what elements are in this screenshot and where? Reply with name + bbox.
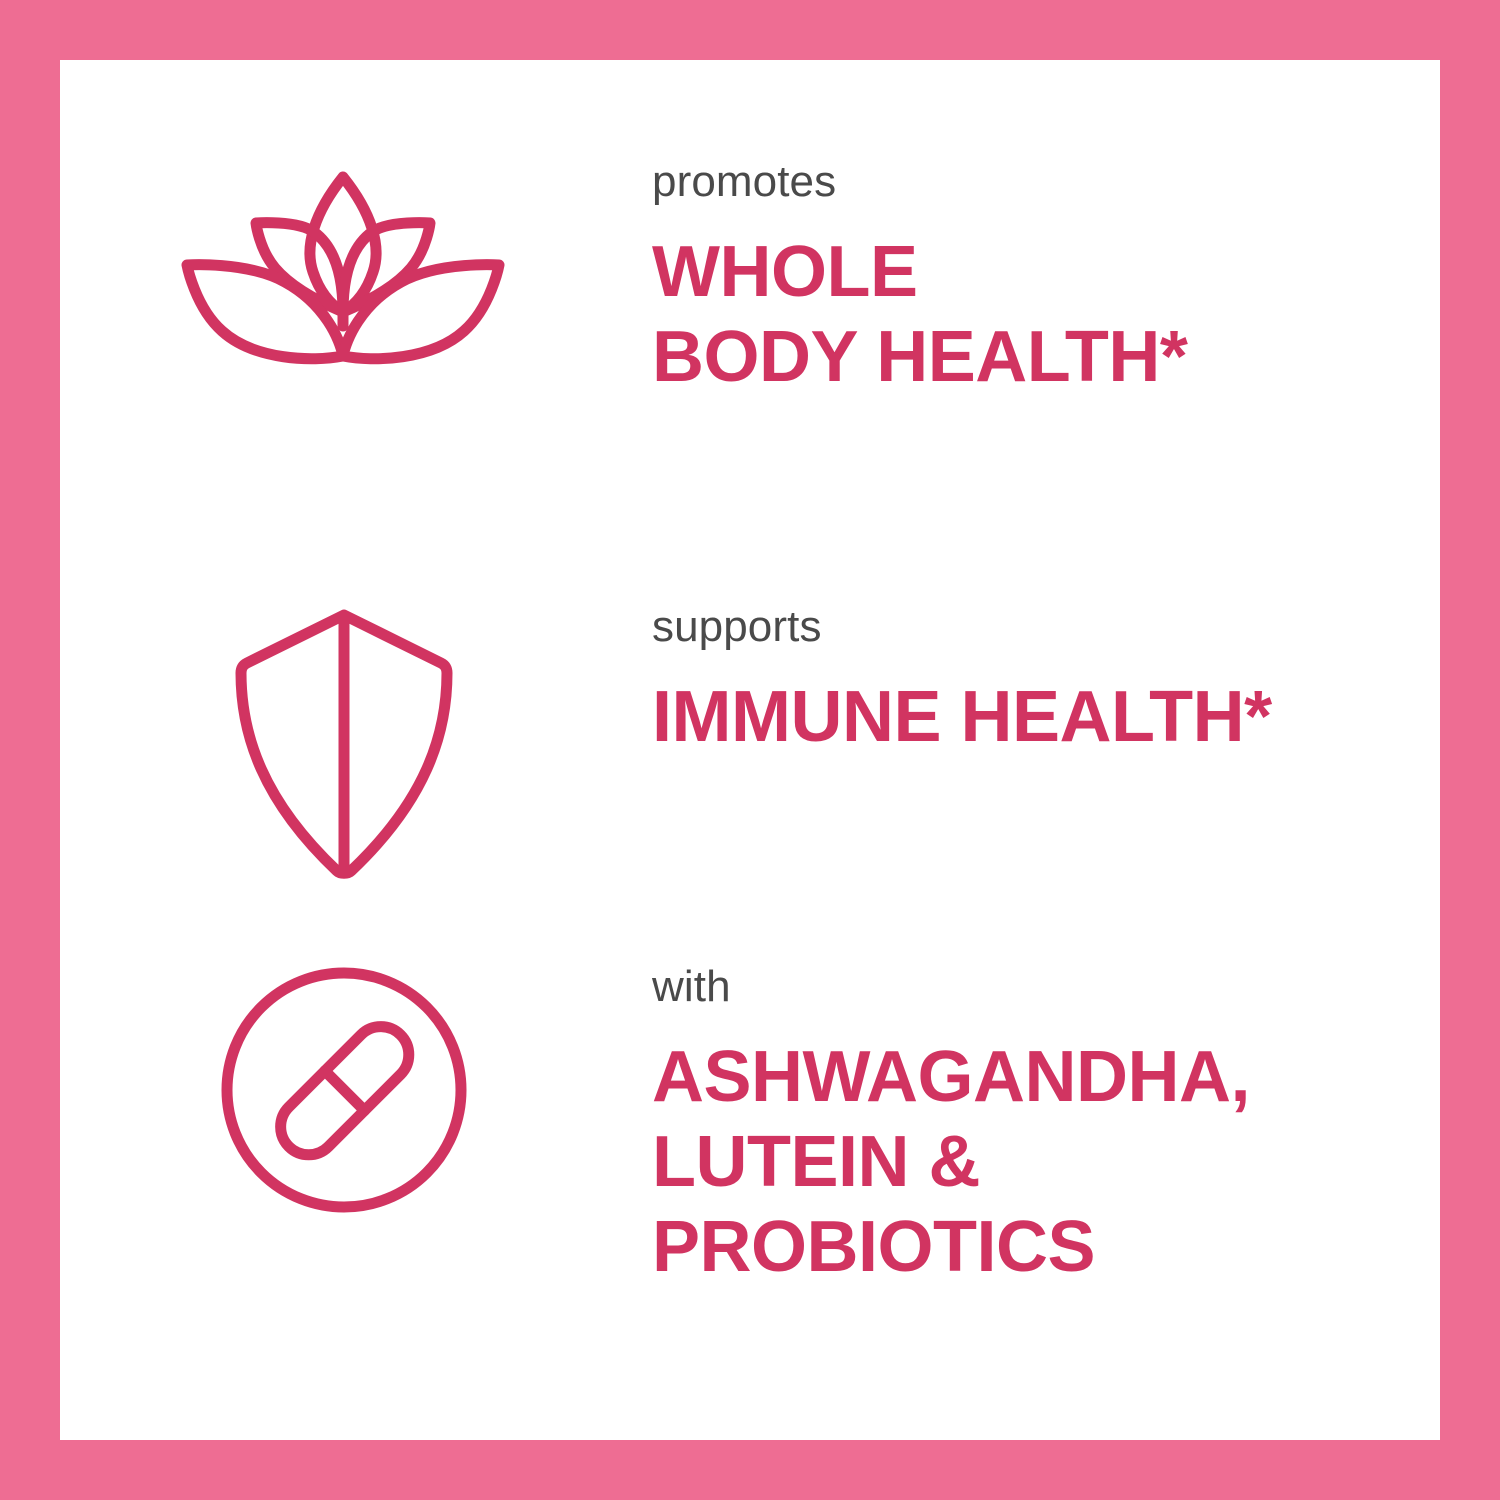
feature-row-whole-body-health: promotes WHOLE BODY HEALTH* [60, 160, 1440, 410]
pill-in-circle-icon [219, 965, 469, 1215]
white-content-card: promotes WHOLE BODY HEALTH* supports [60, 60, 1440, 1440]
feature-headline: IMMUNE HEALTH* [652, 675, 1440, 760]
feature-icon-cell [60, 605, 640, 885]
feature-text-cell: promotes WHOLE BODY HEALTH* [640, 160, 1440, 400]
feature-icon-cell [60, 965, 640, 1215]
lotus-flower-icon [173, 160, 513, 410]
feature-eyebrow: supports [652, 605, 1440, 649]
feature-row-ingredients: with ASHWAGANDHA, LUTEIN & PROBIOTICS [60, 965, 1440, 1290]
feature-text-cell: with ASHWAGANDHA, LUTEIN & PROBIOTICS [640, 965, 1440, 1290]
feature-eyebrow: with [652, 965, 1440, 1009]
feature-headline: ASHWAGANDHA, LUTEIN & PROBIOTICS [652, 1035, 1440, 1290]
shield-icon [224, 605, 464, 885]
feature-text-cell: supports IMMUNE HEALTH* [640, 605, 1440, 760]
feature-row-immune-health: supports IMMUNE HEALTH* [60, 605, 1440, 885]
feature-icon-cell [60, 160, 640, 410]
product-benefits-panel: promotes WHOLE BODY HEALTH* supports [0, 0, 1500, 1500]
feature-headline: WHOLE BODY HEALTH* [652, 230, 1440, 400]
feature-eyebrow: promotes [652, 160, 1440, 204]
